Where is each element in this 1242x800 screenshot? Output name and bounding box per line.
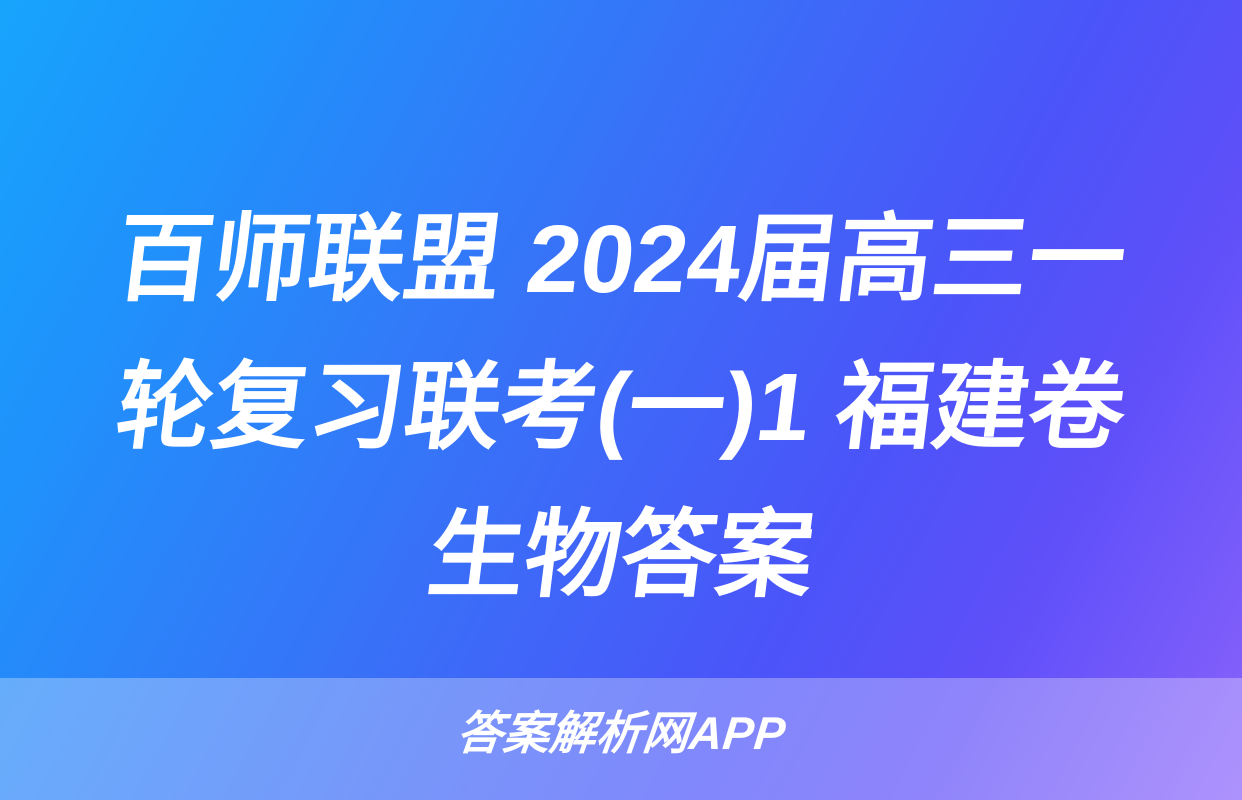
title-line-2: 轮复习联考(一)1 福建卷 [51, 334, 1191, 482]
page-title: 百师联盟 2024届高三一 轮复习联考(一)1 福建卷 生物答案 [0, 186, 1242, 630]
answer-poster: 百师联盟 2024届高三一 轮复习联考(一)1 福建卷 生物答案 答案解析网AP… [0, 0, 1242, 800]
watermark-label: 答案解析网APP [454, 706, 788, 760]
title-line-1: 百师联盟 2024届高三一 [51, 186, 1191, 334]
watermark: 答案解析网APP [0, 706, 1242, 760]
title-line-3: 生物答案 [51, 482, 1191, 630]
